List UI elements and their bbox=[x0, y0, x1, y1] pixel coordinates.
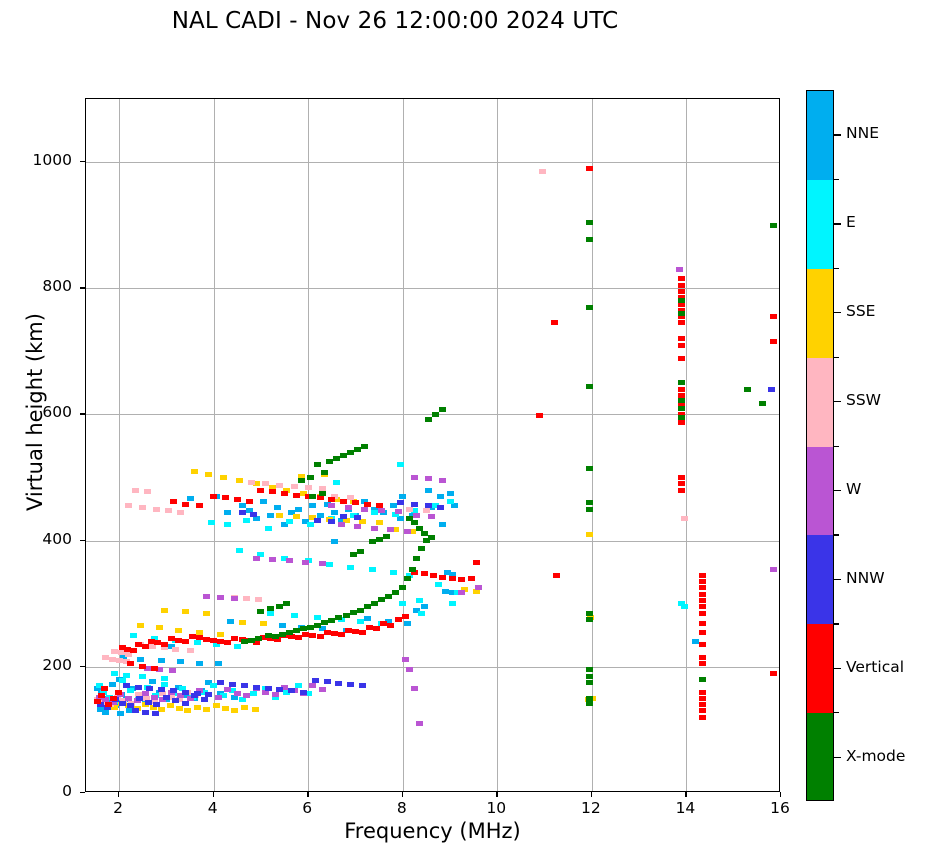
data-point bbox=[279, 632, 286, 637]
data-point bbox=[357, 549, 364, 554]
data-point bbox=[468, 576, 475, 581]
data-point bbox=[276, 604, 283, 609]
data-point bbox=[321, 620, 328, 625]
data-point bbox=[399, 585, 406, 590]
data-point bbox=[343, 613, 350, 618]
data-point bbox=[217, 632, 224, 637]
data-point bbox=[161, 608, 168, 613]
colorbar-segment-w bbox=[807, 447, 833, 536]
data-point bbox=[239, 510, 246, 515]
data-point bbox=[699, 642, 706, 647]
data-point bbox=[678, 336, 685, 341]
data-point bbox=[276, 483, 283, 488]
data-point bbox=[331, 510, 338, 515]
data-point bbox=[151, 666, 158, 671]
data-point bbox=[123, 673, 130, 678]
data-point bbox=[411, 520, 418, 525]
data-point bbox=[127, 661, 134, 666]
colorbar bbox=[806, 90, 834, 801]
data-point bbox=[439, 478, 446, 483]
data-point bbox=[439, 522, 446, 527]
data-point bbox=[203, 637, 210, 642]
colorbar-boundary-tick bbox=[834, 712, 839, 713]
data-point bbox=[196, 661, 203, 666]
data-point bbox=[447, 491, 454, 496]
colorbar-label-vertical: Vertical bbox=[846, 658, 904, 676]
data-point bbox=[210, 494, 217, 499]
data-point bbox=[678, 283, 685, 288]
data-point bbox=[163, 695, 170, 700]
x-tick-mark bbox=[213, 792, 214, 797]
data-point bbox=[586, 166, 593, 171]
data-point bbox=[139, 674, 146, 679]
data-point bbox=[312, 678, 319, 683]
data-point bbox=[98, 693, 105, 698]
data-point bbox=[302, 632, 309, 637]
data-point bbox=[269, 489, 276, 494]
data-point bbox=[354, 447, 361, 452]
data-point bbox=[144, 489, 151, 494]
data-point bbox=[267, 611, 274, 616]
data-point bbox=[314, 462, 321, 467]
data-point bbox=[272, 692, 279, 697]
data-point bbox=[217, 680, 224, 685]
y-tick-mark bbox=[80, 666, 85, 667]
data-point bbox=[288, 688, 295, 693]
data-point bbox=[770, 671, 777, 676]
data-point bbox=[272, 634, 279, 639]
data-point bbox=[411, 686, 418, 691]
x-tick-mark bbox=[685, 792, 686, 797]
data-point bbox=[172, 698, 179, 703]
data-point bbox=[231, 708, 238, 713]
data-point bbox=[176, 706, 183, 711]
data-point bbox=[203, 594, 210, 599]
data-point bbox=[319, 561, 326, 566]
data-point bbox=[196, 635, 203, 640]
x-tick-mark bbox=[307, 792, 308, 797]
colorbar-tick bbox=[834, 223, 841, 224]
data-point bbox=[359, 630, 366, 635]
data-point bbox=[274, 505, 281, 510]
data-point bbox=[172, 647, 179, 652]
data-point bbox=[536, 413, 543, 418]
data-point bbox=[177, 510, 184, 515]
data-point bbox=[309, 633, 316, 638]
data-point bbox=[421, 604, 428, 609]
data-point bbox=[224, 687, 231, 692]
data-point bbox=[276, 687, 283, 692]
data-point bbox=[345, 505, 352, 510]
y-tick-label: 0 bbox=[0, 782, 72, 800]
data-point bbox=[399, 601, 406, 606]
data-point bbox=[395, 617, 402, 622]
data-point bbox=[265, 686, 272, 691]
data-point bbox=[770, 339, 777, 344]
colorbar-segment-vertical bbox=[807, 624, 833, 713]
x-tick-label: 10 bbox=[466, 799, 526, 817]
data-point bbox=[768, 387, 775, 392]
data-point bbox=[678, 298, 685, 303]
data-point bbox=[130, 633, 137, 638]
data-point bbox=[260, 621, 267, 626]
data-point bbox=[132, 708, 139, 713]
x-tick-mark bbox=[402, 792, 403, 797]
data-point bbox=[111, 649, 118, 654]
data-point bbox=[378, 508, 385, 513]
data-point bbox=[371, 510, 378, 515]
y-axis-label: Virtual height (km) bbox=[23, 162, 47, 662]
data-point bbox=[105, 702, 112, 707]
data-point bbox=[309, 503, 316, 508]
data-point bbox=[265, 526, 272, 531]
data-point bbox=[267, 606, 274, 611]
data-point bbox=[288, 634, 295, 639]
x-tick-mark bbox=[496, 792, 497, 797]
data-point bbox=[428, 535, 435, 540]
data-point bbox=[257, 609, 264, 614]
y-tick-mark bbox=[80, 161, 85, 162]
x-tick-mark bbox=[118, 792, 119, 797]
data-point bbox=[317, 634, 324, 639]
data-point bbox=[390, 570, 397, 575]
data-point bbox=[586, 680, 593, 685]
data-point bbox=[586, 532, 593, 537]
data-point bbox=[458, 590, 465, 595]
data-point bbox=[387, 623, 394, 628]
x-tick-mark bbox=[780, 792, 781, 797]
data-point bbox=[678, 481, 685, 486]
data-point bbox=[326, 459, 333, 464]
data-point bbox=[397, 500, 404, 505]
data-point bbox=[196, 503, 203, 508]
data-point bbox=[194, 705, 201, 710]
data-point bbox=[102, 710, 109, 715]
data-point bbox=[413, 556, 420, 561]
data-point bbox=[196, 630, 203, 635]
data-point bbox=[361, 444, 368, 449]
data-point bbox=[416, 721, 423, 726]
data-point bbox=[182, 639, 189, 644]
data-point bbox=[307, 522, 314, 527]
data-point bbox=[246, 499, 253, 504]
data-point bbox=[421, 571, 428, 576]
data-point bbox=[699, 630, 706, 635]
colorbar-segment-ssw bbox=[807, 358, 833, 447]
data-point bbox=[425, 503, 432, 508]
data-point bbox=[182, 609, 189, 614]
data-point bbox=[165, 508, 172, 513]
colorbar-tick bbox=[834, 668, 841, 669]
data-point bbox=[201, 697, 208, 702]
data-point bbox=[125, 503, 132, 508]
data-point bbox=[255, 636, 262, 641]
data-point bbox=[352, 629, 359, 634]
data-point bbox=[328, 519, 335, 524]
data-point bbox=[295, 635, 302, 640]
data-point bbox=[170, 499, 177, 504]
data-point bbox=[699, 702, 706, 707]
colorbar-tick bbox=[834, 579, 841, 580]
data-point bbox=[699, 598, 706, 603]
data-point bbox=[418, 611, 425, 616]
colorbar-segment-sse bbox=[807, 269, 833, 358]
data-point bbox=[586, 701, 593, 706]
data-point bbox=[257, 488, 264, 493]
data-point bbox=[449, 576, 456, 581]
data-point bbox=[369, 539, 376, 544]
data-point bbox=[189, 634, 196, 639]
data-point bbox=[267, 513, 274, 518]
data-point bbox=[376, 503, 383, 508]
data-point bbox=[309, 683, 316, 688]
data-point bbox=[678, 276, 685, 281]
data-point bbox=[328, 618, 335, 623]
data-point bbox=[210, 683, 217, 688]
colorbar-boundary-tick bbox=[834, 446, 839, 447]
data-point bbox=[293, 628, 300, 633]
x-tick-label: 14 bbox=[655, 799, 715, 817]
data-point bbox=[366, 625, 373, 630]
data-point bbox=[229, 682, 236, 687]
data-point bbox=[699, 604, 706, 609]
data-point bbox=[364, 502, 371, 507]
data-point bbox=[137, 623, 144, 628]
data-point bbox=[409, 567, 416, 572]
colorbar-label-e: E bbox=[846, 213, 856, 231]
data-point bbox=[404, 576, 411, 581]
data-point bbox=[586, 305, 593, 310]
data-point bbox=[383, 534, 390, 539]
data-point bbox=[361, 507, 368, 512]
data-point bbox=[699, 592, 706, 597]
data-point bbox=[586, 384, 593, 389]
data-point bbox=[220, 475, 227, 480]
data-point bbox=[94, 699, 101, 704]
data-point bbox=[317, 495, 324, 500]
data-point bbox=[182, 690, 189, 695]
data-point bbox=[250, 691, 257, 696]
data-point bbox=[678, 380, 685, 385]
data-point bbox=[314, 518, 321, 523]
data-point bbox=[250, 512, 257, 517]
data-point bbox=[137, 657, 144, 662]
data-point bbox=[305, 485, 312, 490]
data-point bbox=[699, 611, 706, 616]
y-tick-mark bbox=[80, 540, 85, 541]
data-point bbox=[399, 494, 406, 499]
colorbar-tick bbox=[834, 401, 841, 402]
data-point bbox=[678, 398, 685, 403]
data-point bbox=[338, 522, 345, 527]
data-point bbox=[331, 539, 338, 544]
data-point bbox=[416, 526, 423, 531]
data-point bbox=[699, 677, 706, 682]
data-point bbox=[319, 687, 326, 692]
data-point bbox=[350, 610, 357, 615]
data-point bbox=[222, 495, 229, 500]
data-point bbox=[153, 702, 160, 707]
data-point bbox=[404, 529, 411, 534]
data-point bbox=[338, 632, 345, 637]
data-point bbox=[437, 494, 444, 499]
data-point bbox=[395, 509, 402, 514]
data-point bbox=[217, 595, 224, 600]
data-point bbox=[241, 683, 248, 688]
data-point bbox=[699, 690, 706, 695]
data-point bbox=[371, 526, 378, 531]
data-point bbox=[551, 320, 558, 325]
data-point bbox=[392, 590, 399, 595]
data-point bbox=[539, 169, 546, 174]
data-point bbox=[234, 644, 241, 649]
colorbar-boundary-tick bbox=[834, 534, 839, 535]
page-title: NAL CADI - Nov 26 12:00:00 2024 UTC bbox=[0, 8, 790, 34]
data-point bbox=[253, 556, 260, 561]
colorbar-boundary-tick bbox=[834, 268, 839, 269]
data-point bbox=[447, 499, 454, 504]
data-point bbox=[699, 573, 706, 578]
data-point bbox=[309, 494, 316, 499]
data-point bbox=[241, 705, 248, 710]
colorbar-segment-e bbox=[807, 180, 833, 269]
data-point bbox=[458, 577, 465, 582]
data-point bbox=[699, 715, 706, 720]
data-point bbox=[699, 579, 706, 584]
data-point bbox=[234, 691, 241, 696]
data-point bbox=[692, 639, 699, 644]
data-point bbox=[357, 619, 364, 624]
data-point bbox=[326, 562, 333, 567]
data-point bbox=[373, 626, 380, 631]
data-point bbox=[135, 685, 142, 690]
colorbar-label-nne: NNE bbox=[846, 124, 879, 142]
data-point bbox=[432, 412, 439, 417]
data-point bbox=[169, 668, 176, 673]
data-point bbox=[293, 493, 300, 498]
data-point bbox=[224, 640, 231, 645]
data-point bbox=[291, 613, 298, 618]
data-point bbox=[293, 514, 300, 519]
data-point bbox=[307, 625, 314, 630]
data-point bbox=[187, 648, 194, 653]
data-point bbox=[142, 710, 149, 715]
data-point bbox=[340, 499, 347, 504]
data-point bbox=[205, 692, 212, 697]
data-point bbox=[224, 522, 231, 527]
data-point bbox=[699, 708, 706, 713]
data-point bbox=[281, 491, 288, 496]
data-point bbox=[127, 688, 134, 693]
data-point bbox=[770, 314, 777, 319]
data-point bbox=[425, 417, 432, 422]
data-point bbox=[364, 604, 371, 609]
data-point bbox=[411, 475, 418, 480]
data-point bbox=[586, 667, 593, 672]
data-point bbox=[347, 565, 354, 570]
data-point bbox=[678, 311, 685, 316]
data-point bbox=[586, 611, 593, 616]
data-point bbox=[298, 478, 305, 483]
colorbar-label-ssw: SSW bbox=[846, 391, 881, 409]
data-point bbox=[586, 466, 593, 471]
data-point bbox=[413, 513, 420, 518]
data-point bbox=[678, 320, 685, 325]
data-point bbox=[699, 655, 706, 660]
data-point bbox=[418, 546, 425, 551]
data-point bbox=[205, 472, 212, 477]
colorbar-tick bbox=[834, 312, 841, 313]
x-axis-label: Frequency (MHz) bbox=[85, 819, 780, 843]
data-point bbox=[142, 644, 149, 649]
data-point bbox=[380, 621, 387, 626]
data-point bbox=[676, 267, 683, 272]
x-tick-label: 6 bbox=[277, 799, 337, 817]
data-point bbox=[117, 711, 124, 716]
data-point bbox=[295, 507, 302, 512]
data-point bbox=[451, 503, 458, 508]
data-point bbox=[116, 658, 123, 663]
data-point bbox=[217, 639, 224, 644]
data-point bbox=[416, 598, 423, 603]
data-point bbox=[406, 507, 413, 512]
data-point bbox=[678, 343, 685, 348]
data-point bbox=[255, 597, 262, 602]
data-point bbox=[253, 685, 260, 690]
data-point bbox=[210, 638, 217, 643]
data-point bbox=[678, 356, 685, 361]
colorbar-segment-nne bbox=[807, 91, 833, 180]
data-point bbox=[130, 648, 137, 653]
data-point bbox=[371, 601, 378, 606]
data-point bbox=[191, 469, 198, 474]
data-point bbox=[439, 407, 446, 412]
data-point bbox=[123, 683, 130, 688]
data-point bbox=[586, 220, 593, 225]
data-point bbox=[136, 696, 143, 701]
data-point bbox=[224, 510, 231, 515]
data-points-layer bbox=[86, 99, 779, 791]
data-point bbox=[177, 659, 184, 664]
data-point bbox=[390, 503, 397, 508]
data-point bbox=[236, 478, 243, 483]
data-point bbox=[260, 499, 267, 504]
data-point bbox=[345, 628, 352, 633]
data-point bbox=[302, 560, 309, 565]
data-point bbox=[194, 640, 201, 645]
data-point bbox=[314, 623, 321, 628]
data-point bbox=[182, 502, 189, 507]
data-point bbox=[437, 505, 444, 510]
data-point bbox=[699, 696, 706, 701]
data-point bbox=[439, 575, 446, 580]
data-point bbox=[357, 608, 364, 613]
data-point bbox=[376, 537, 383, 542]
data-point bbox=[678, 475, 685, 480]
data-point bbox=[350, 552, 357, 557]
data-point bbox=[678, 420, 685, 425]
data-point bbox=[678, 406, 685, 411]
data-point bbox=[203, 611, 210, 616]
data-point bbox=[435, 582, 442, 587]
data-point bbox=[321, 470, 328, 475]
data-point bbox=[354, 515, 361, 520]
data-point bbox=[411, 502, 418, 507]
data-point bbox=[406, 516, 413, 521]
data-point bbox=[347, 682, 354, 687]
data-point bbox=[248, 638, 255, 643]
data-point bbox=[678, 289, 685, 294]
